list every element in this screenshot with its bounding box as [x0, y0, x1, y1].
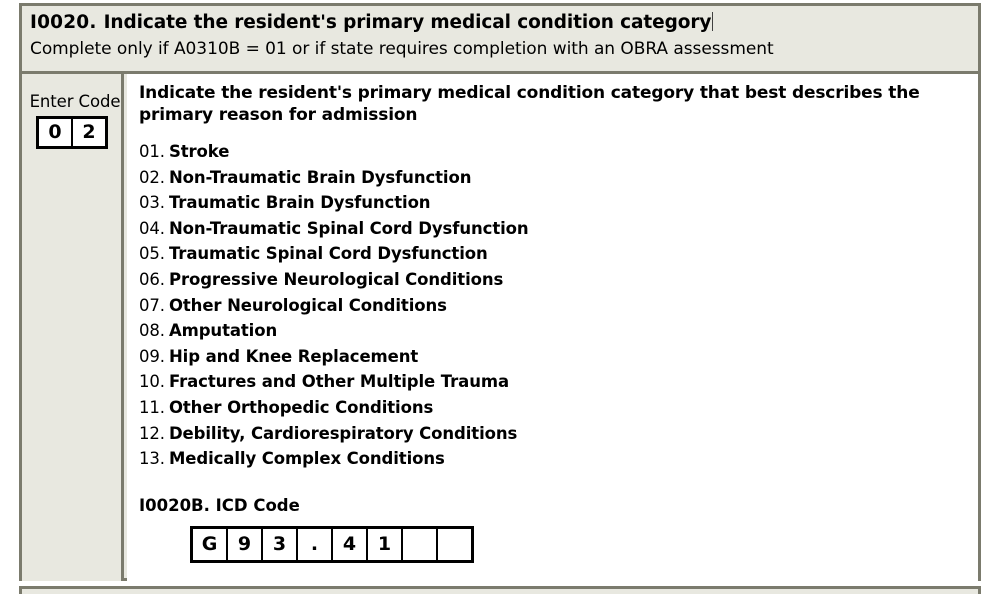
option-number: 02.: [139, 168, 165, 187]
list-item[interactable]: 07.Other Neurological Conditions: [139, 293, 978, 319]
enter-code-column: Enter Code 0 2: [22, 74, 124, 581]
option-label: Other Neurological Conditions: [169, 296, 447, 315]
item-content-column: Indicate the resident's primary medical …: [127, 74, 978, 581]
list-item[interactable]: 13.Medically Complex Conditions: [139, 446, 978, 472]
option-number: 11.: [139, 398, 165, 417]
icd-code-char[interactable]: [436, 529, 471, 560]
item-i0020-panel: I0020.Indicate the resident's primary me…: [19, 3, 981, 581]
list-item[interactable]: 02.Non-Traumatic Brain Dysfunction: [139, 165, 978, 191]
option-number: 08.: [139, 321, 165, 340]
option-label: Other Orthopedic Conditions: [169, 398, 433, 417]
enter-code-label: Enter Code: [27, 92, 123, 111]
option-number: 09.: [139, 347, 165, 366]
option-number: 13.: [139, 449, 165, 468]
option-label: Fractures and Other Multiple Trauma: [169, 372, 509, 391]
option-label: Non-Traumatic Brain Dysfunction: [169, 168, 471, 187]
list-item[interactable]: 10.Fractures and Other Multiple Trauma: [139, 369, 978, 395]
option-number: 10.: [139, 372, 165, 391]
text-cursor: [712, 12, 713, 31]
option-label: Debility, Cardiorespiratory Conditions: [169, 424, 517, 443]
option-label: Medically Complex Conditions: [169, 449, 445, 468]
option-number: 04.: [139, 219, 165, 238]
option-label: Stroke: [169, 142, 229, 161]
option-number: 03.: [139, 193, 165, 212]
icd-code-char[interactable]: 3: [261, 529, 296, 560]
icd-code-char[interactable]: 4: [331, 529, 366, 560]
form-page: I0020.Indicate the resident's primary me…: [0, 0, 1000, 594]
item-title-text: Indicate the resident's primary medical …: [104, 12, 712, 33]
option-label: Traumatic Spinal Cord Dysfunction: [169, 244, 488, 263]
option-label: Amputation: [169, 321, 277, 340]
list-item[interactable]: 06.Progressive Neurological Conditions: [139, 267, 978, 293]
list-item[interactable]: 01.Stroke: [139, 139, 978, 165]
icd-code-char[interactable]: [401, 529, 436, 560]
list-item[interactable]: 03.Traumatic Brain Dysfunction: [139, 190, 978, 216]
item-title-line: I0020.Indicate the resident's primary me…: [30, 10, 978, 35]
list-item[interactable]: 09.Hip and Knee Replacement: [139, 344, 978, 370]
list-item[interactable]: 12.Debility, Cardiorespiratory Condition…: [139, 421, 978, 447]
item-subtitle: Complete only if A0310B = 01 or if state…: [30, 37, 978, 61]
item-body: Enter Code 0 2 Indicate the resident's p…: [22, 74, 978, 581]
icd-code-char[interactable]: .: [296, 529, 331, 560]
option-label: Traumatic Brain Dysfunction: [169, 193, 431, 212]
option-number: 12.: [139, 424, 165, 443]
option-number: 06.: [139, 270, 165, 289]
enter-code-digit[interactable]: 0: [39, 119, 71, 146]
list-item[interactable]: 04.Non-Traumatic Spinal Cord Dysfunction: [139, 216, 978, 242]
icd-code-char[interactable]: 9: [226, 529, 261, 560]
icd-code-title: I0020B. ICD Code: [139, 496, 978, 515]
condition-category-options: 01.Stroke 02.Non-Traumatic Brain Dysfunc…: [139, 139, 978, 472]
item-number: I0020.: [30, 12, 97, 33]
next-item-panel: [19, 586, 981, 594]
option-number: 05.: [139, 244, 165, 263]
icd-code-section: I0020B. ICD Code G 9 3 . 4 1: [139, 496, 978, 563]
list-item[interactable]: 11.Other Orthopedic Conditions: [139, 395, 978, 421]
icd-code-char[interactable]: 1: [366, 529, 401, 560]
option-number: 07.: [139, 296, 165, 315]
option-label: Progressive Neurological Conditions: [169, 270, 503, 289]
enter-code-digit[interactable]: 2: [71, 119, 105, 146]
enter-code-input[interactable]: 0 2: [36, 116, 108, 149]
list-item[interactable]: 05.Traumatic Spinal Cord Dysfunction: [139, 241, 978, 267]
option-number: 01.: [139, 142, 165, 161]
icd-code-char[interactable]: G: [193, 529, 226, 560]
option-label: Non-Traumatic Spinal Cord Dysfunction: [169, 219, 529, 238]
icd-code-input[interactable]: G 9 3 . 4 1: [190, 526, 474, 563]
list-item[interactable]: 08.Amputation: [139, 318, 978, 344]
option-label: Hip and Knee Replacement: [169, 347, 418, 366]
item-header: I0020.Indicate the resident's primary me…: [22, 6, 978, 74]
lead-instruction: Indicate the resident's primary medical …: [139, 82, 977, 126]
